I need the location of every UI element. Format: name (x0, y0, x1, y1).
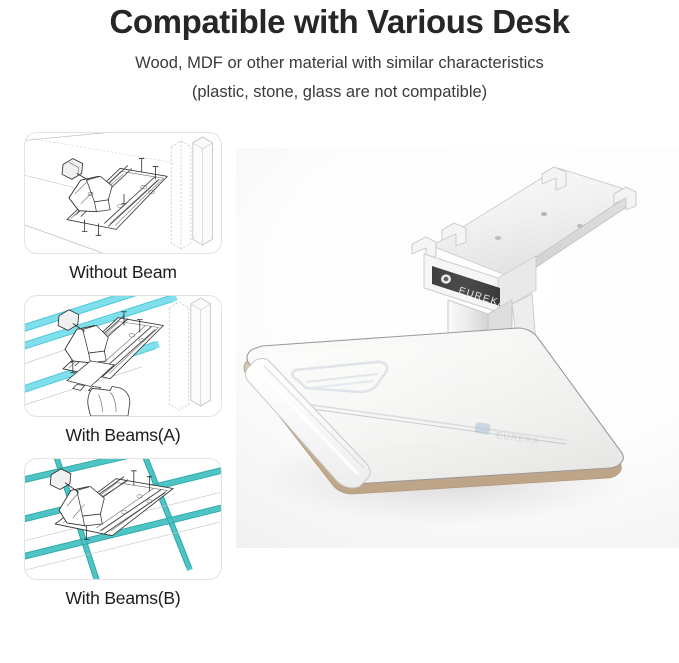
panel-image-with-beams-a (24, 295, 222, 417)
panel-with-beams-a[interactable]: With Beams(A) (24, 295, 232, 450)
page-title: Compatible with Various Desk (12, 0, 667, 42)
panel-image-without-beam (24, 132, 222, 254)
panel-caption-without-beam: Without Beam (24, 254, 222, 287)
diagram-with-beams-a (25, 296, 221, 416)
subtitle-line-2: (plastic, stone, glass are not compatibl… (12, 79, 667, 106)
panel-without-beam[interactable]: Without Beam (24, 132, 232, 287)
compatibility-panel-list: Without Beam (24, 132, 232, 621)
diagram-without-beam (25, 133, 221, 253)
header: Compatible with Various Desk Wood, MDF o… (0, 0, 679, 106)
subtitle-line-1: Wood, MDF or other material with similar… (12, 50, 667, 77)
panel-image-with-beams-b (24, 458, 222, 580)
product-photo: EUREKA (236, 148, 679, 548)
panel-with-beams-b[interactable]: With Beams(B) (24, 458, 232, 613)
panel-caption-with-beams-b: With Beams(B) (24, 580, 222, 613)
diagram-with-beams-b (25, 459, 221, 579)
product-illustration: EUREKA (236, 148, 679, 548)
content-area: Without Beam (0, 128, 679, 663)
panel-caption-with-beams-a: With Beams(A) (24, 417, 222, 450)
